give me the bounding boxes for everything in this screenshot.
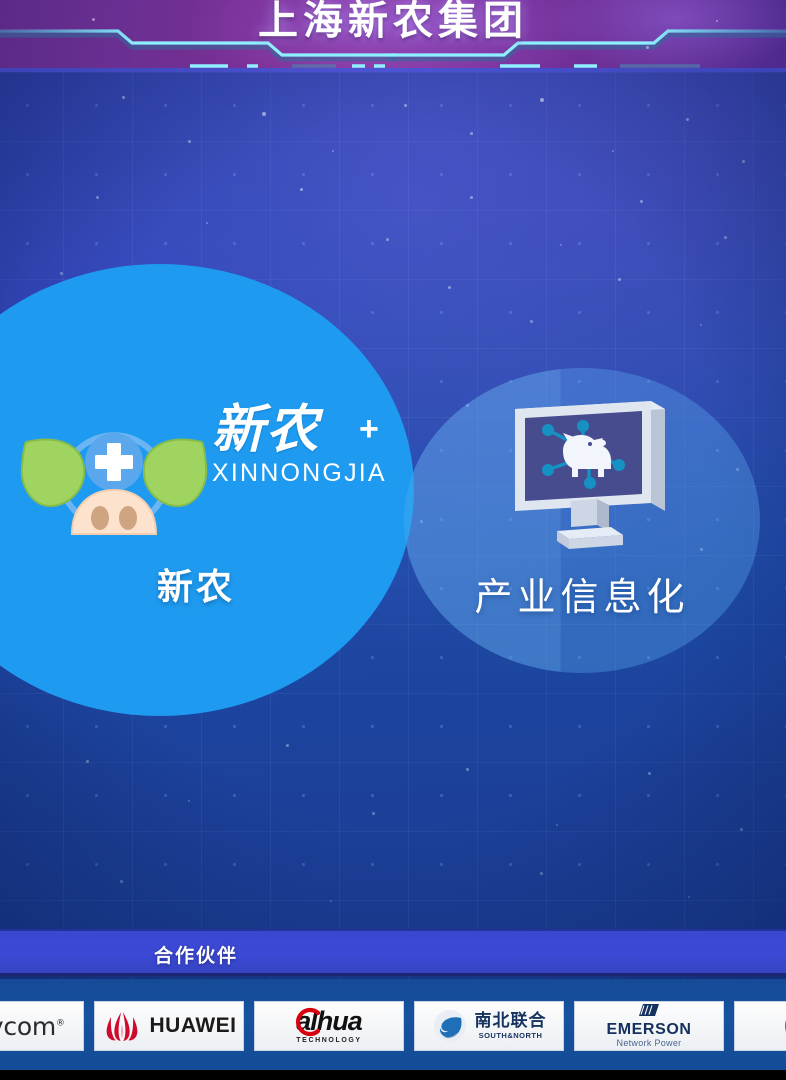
dahua-swoosh-icon (292, 1007, 322, 1037)
brand-plus-sign: + (359, 412, 379, 446)
dahua-logo: alhua TECHNOLOGY (296, 1008, 362, 1044)
brand-lockup: 新农 + XINNONGJIA (6, 398, 406, 538)
globe-logo (782, 1004, 786, 1048)
south-north-mark-icon (432, 1008, 468, 1044)
south-north-logo: 南北联合 SOUTH&NORTH (432, 1008, 547, 1044)
partner-logo-list: Polycom® HUAWEI (0, 1001, 786, 1051)
brand-name-en: XINNONGJIA (212, 459, 406, 488)
polycom-logo: Polycom® (0, 1012, 65, 1041)
page-header: 上海新农集团 (0, 0, 786, 72)
footer-bar (0, 1070, 786, 1080)
huawei-wordmark: HUAWEI (150, 1014, 237, 1038)
partner-logo-emerson[interactable]: EMERSON Network Power (574, 1001, 724, 1051)
partner-logo-dahua[interactable]: alhua TECHNOLOGY (254, 1001, 404, 1051)
circle-right-label: 产业信息化 (404, 566, 760, 621)
partner-logo-polycom[interactable]: Polycom® (0, 1001, 84, 1051)
header-underline (0, 68, 786, 72)
app-screen: 上海新农集团 新农 + XINNONGJIA (0, 0, 786, 1080)
huawei-logo (102, 1009, 142, 1043)
circle-left-label: 新农 (0, 558, 392, 610)
partner-logo-globe[interactable] (734, 1001, 786, 1051)
monitor-pig-network-icon (505, 385, 675, 560)
emerson-wordmark: EMERSON (606, 1021, 691, 1039)
polycom-wordmark: Polycom (0, 1012, 56, 1041)
partners-section-title: 合作伙伴 (0, 931, 392, 978)
south-north-wordmark-en: SOUTH&NORTH (479, 1032, 543, 1040)
south-north-wordmark-cn: 南北联合 (475, 1012, 547, 1030)
page-title: 上海新农集团 (0, 0, 786, 46)
pig-plus-leaf-logo (16, 410, 212, 536)
partner-logo-south-north[interactable]: 南北联合 SOUTH&NORTH (414, 1001, 564, 1051)
emerson-logo: EMERSON Network Power (606, 1003, 691, 1049)
emerson-mark-icon (638, 1003, 660, 1021)
emerson-tagline: Network Power (617, 1039, 682, 1049)
brand-name-cn: 新农 (212, 404, 320, 457)
dahua-tagline: TECHNOLOGY (296, 1037, 361, 1044)
polycom-trademark: ® (56, 1018, 65, 1028)
partner-logo-huawei[interactable]: HUAWEI (94, 1001, 244, 1051)
partners-band: 合作伙伴 (0, 929, 786, 976)
brand-text-block: 新农 + XINNONGJIA (212, 404, 406, 488)
